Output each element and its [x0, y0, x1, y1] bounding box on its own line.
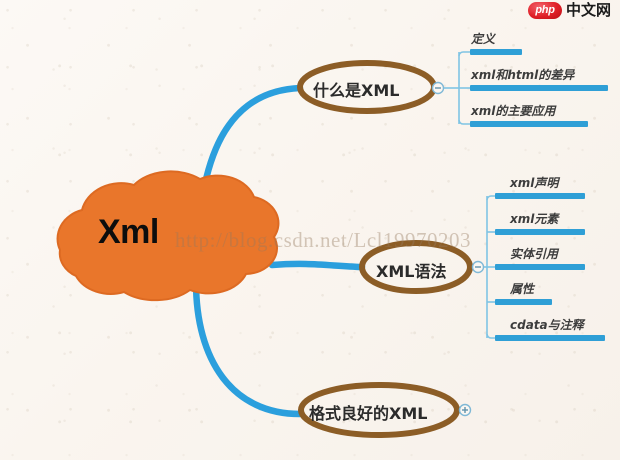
php-site-name: 中文网	[566, 3, 611, 18]
sub-bar-cdata-comment	[495, 335, 605, 341]
sub-label-xml-declaration[interactable]: xml声明	[510, 174, 558, 191]
root-cloud-shape[interactable]	[58, 171, 279, 300]
mindmap-canvas: Xml 什么是XML XML语法 格式良好的XML 定义 xml和html的差异…	[0, 0, 620, 460]
sub-bar-xml-element	[495, 229, 585, 235]
toggle-well-formed[interactable]	[460, 405, 471, 416]
node-what-is-xml-label: 什么是XML	[313, 77, 399, 101]
node-xml-syntax-label: XML语法	[376, 258, 446, 282]
sub-bar-xml-declaration	[495, 193, 585, 199]
sub-label-entity-reference[interactable]: 实体引用	[510, 245, 558, 262]
sub-label-definition[interactable]: 定义	[471, 30, 495, 47]
sub-bar-attribute	[495, 299, 552, 305]
node-well-formed-label: 格式良好的XML	[309, 400, 427, 424]
sub-bar-usage	[470, 121, 588, 127]
connector-root-to-syntax	[272, 264, 362, 267]
sub-bar-diff	[470, 85, 608, 91]
sub-label-xml-html-diff[interactable]: xml和html的差异	[471, 66, 574, 83]
sub-label-xml-element[interactable]: xml元素	[510, 210, 558, 227]
root-label: Xml	[98, 213, 159, 252]
toggle-what-is-xml[interactable]	[433, 83, 444, 94]
sub-label-xml-main-usage[interactable]: xml的主要应用	[471, 102, 555, 119]
php-chinese-logo: php 中文网	[528, 2, 611, 19]
connector-root-to-well	[196, 282, 300, 414]
sub-label-attribute[interactable]: 属性	[510, 280, 534, 297]
sub-bar-entity-ref	[495, 264, 585, 270]
sub-label-cdata-comment[interactable]: cdata与注释	[510, 316, 584, 333]
php-badge-icon: php	[528, 2, 562, 19]
toggle-xml-syntax[interactable]	[473, 262, 484, 273]
sub-bar-definition	[470, 49, 522, 55]
